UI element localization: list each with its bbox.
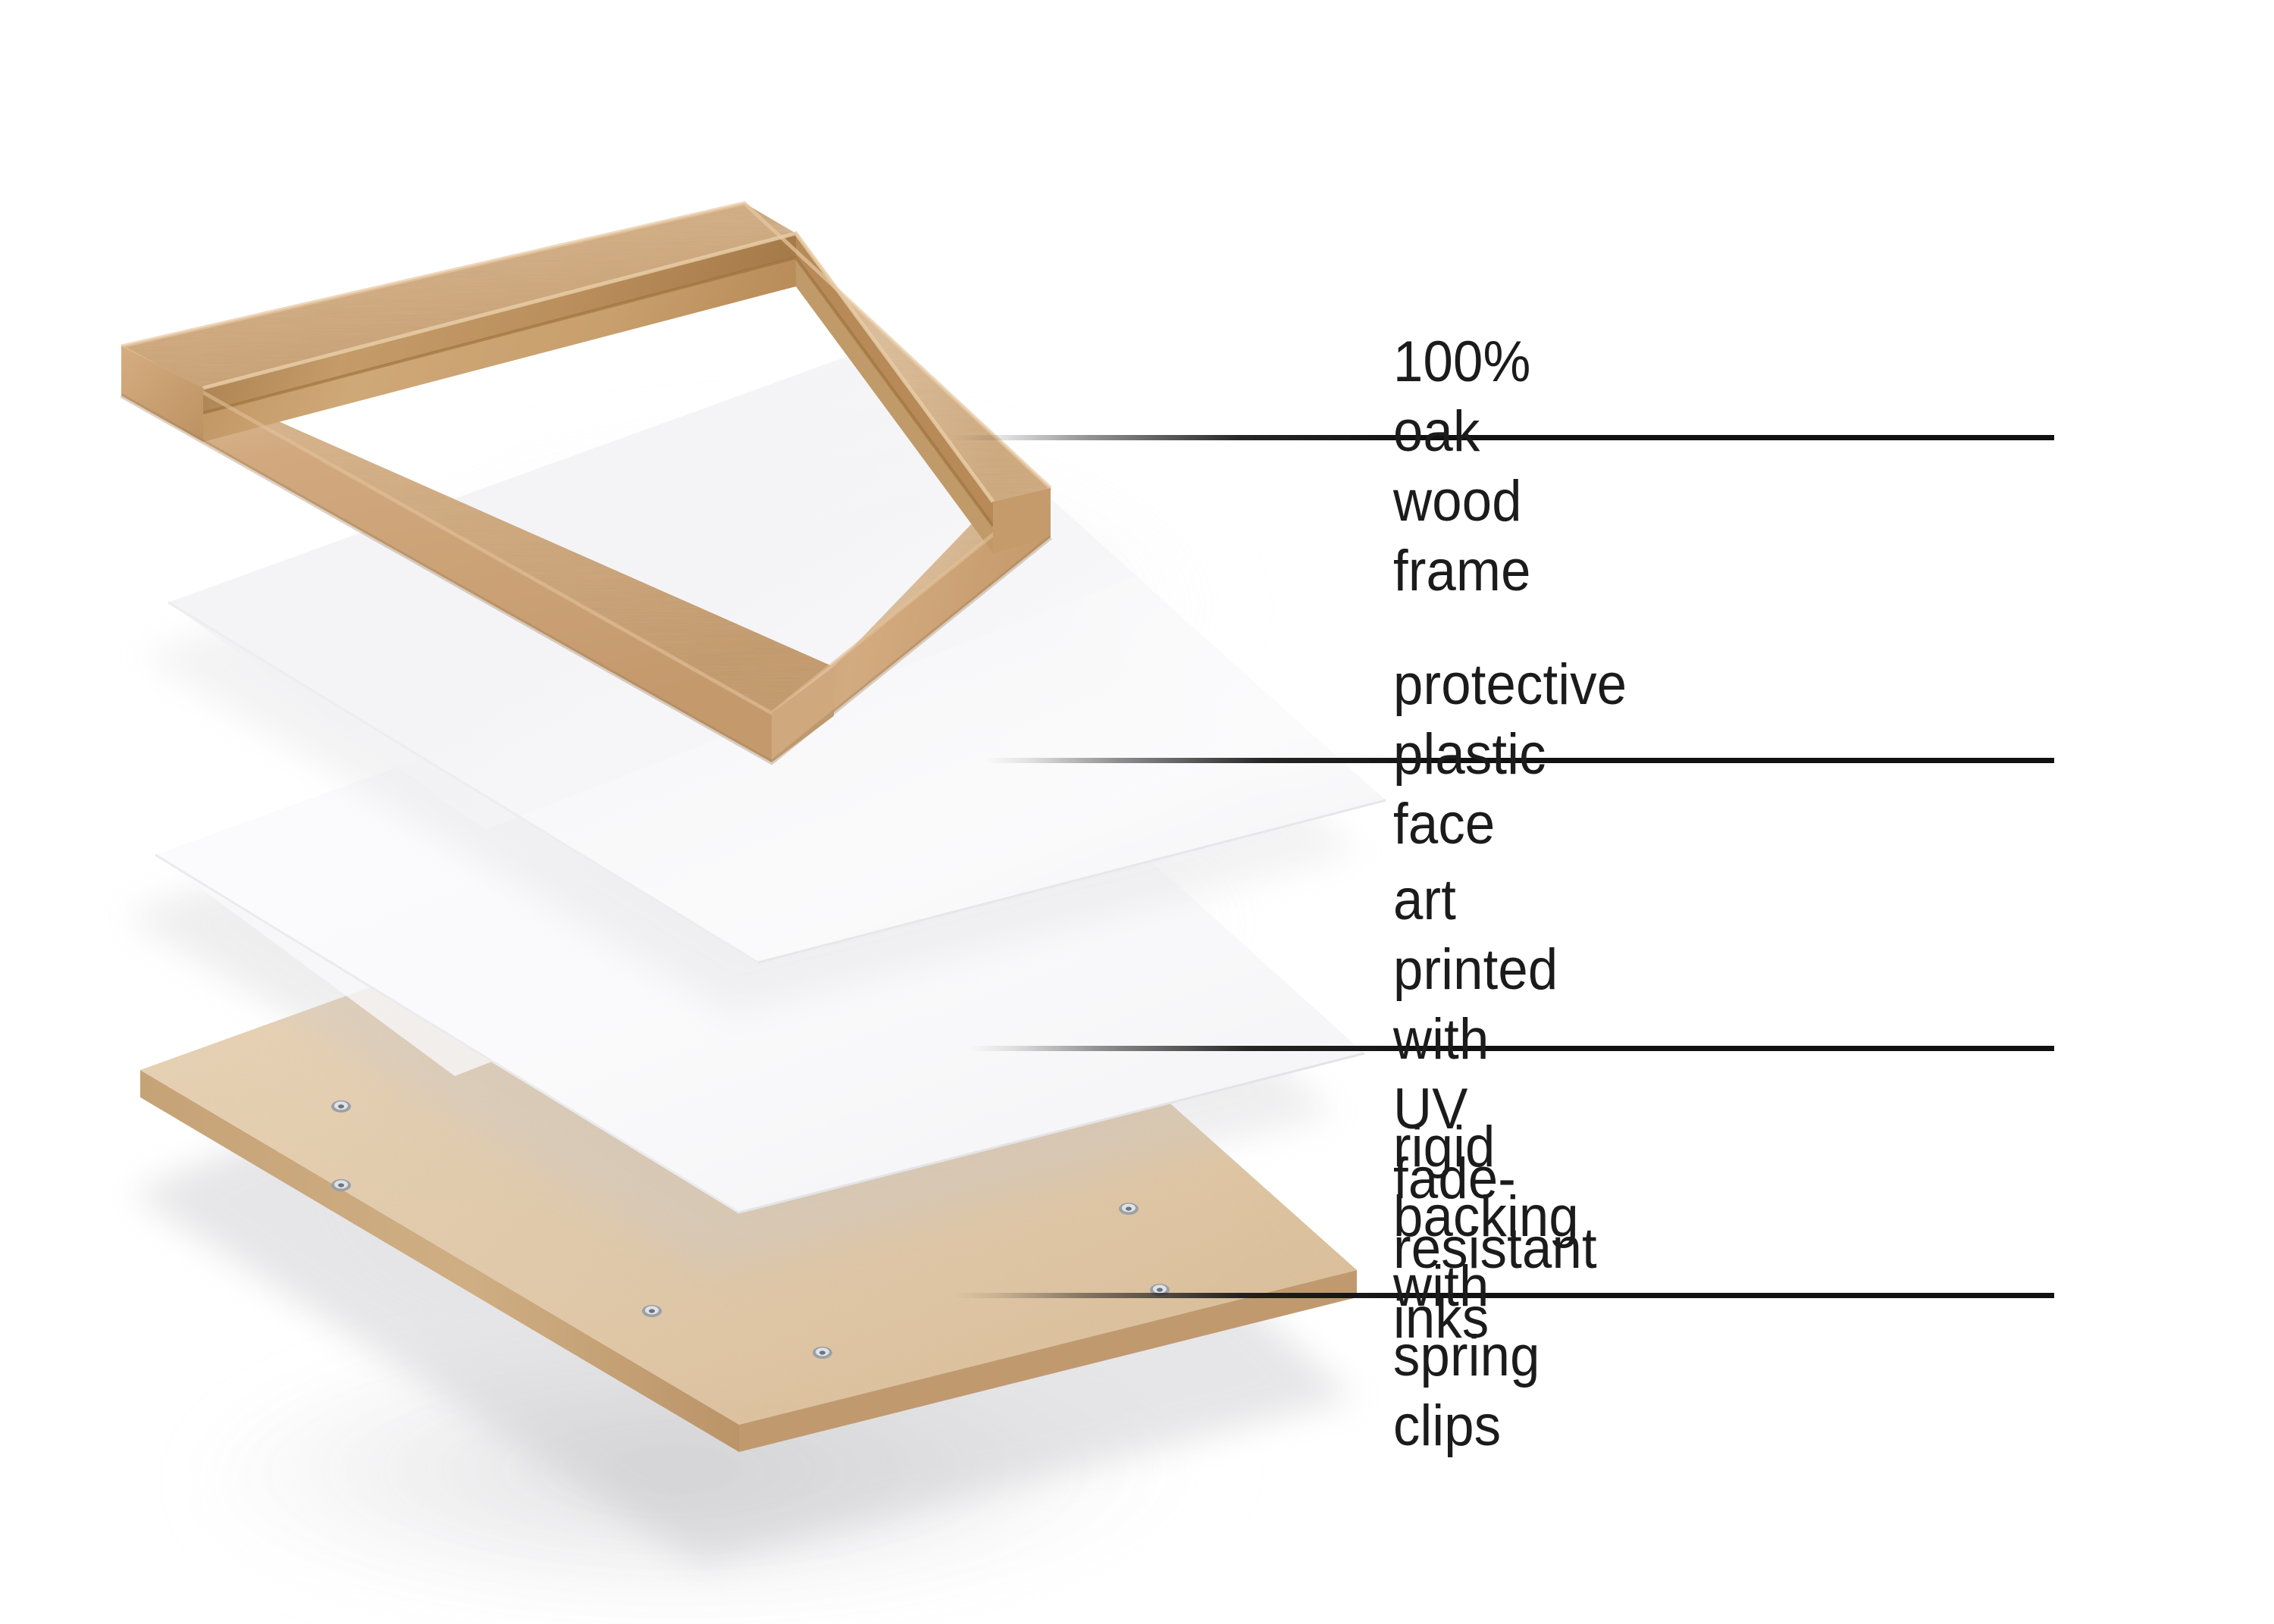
callout-label-frame: 100% oak wood frame xyxy=(1393,327,1531,606)
spring-clip-rivet xyxy=(331,1100,351,1112)
exploded-view-illustration xyxy=(0,0,2274,1624)
diagram-canvas: 100% oak wood frame protective plastic f… xyxy=(0,0,2274,1624)
spring-clip-rivet xyxy=(642,1305,662,1317)
spring-clip-rivet xyxy=(331,1179,351,1191)
callout-label-backing: rigid backing with spring clips xyxy=(1393,1112,1579,1461)
callout-label-plastic: protective plastic face xyxy=(1393,650,1627,859)
spring-clip-rivet xyxy=(1119,1203,1139,1215)
spring-clip-rivet xyxy=(813,1347,832,1359)
